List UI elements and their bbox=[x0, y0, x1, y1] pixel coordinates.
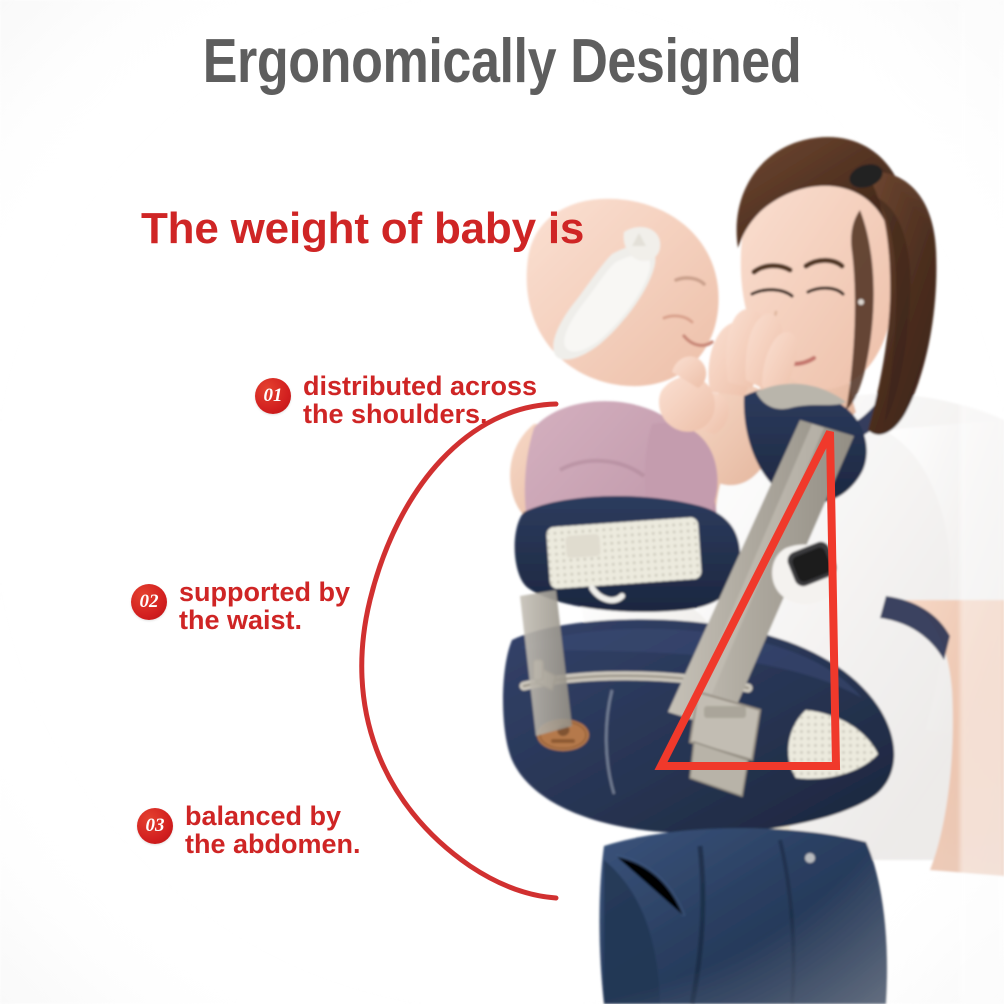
callout-02-text: supported by the waist. bbox=[179, 579, 350, 634]
callout-02-line2: the waist. bbox=[179, 607, 350, 635]
callout-03-text: balanced by the abdomen. bbox=[185, 803, 361, 858]
callout-01-line2: the shoulders. bbox=[303, 401, 537, 429]
callout-01-text: distributed across the shoulders. bbox=[303, 373, 537, 428]
product-infographic: Ergonomically Designed The weight of bab… bbox=[0, 0, 1004, 1004]
callout-02-badge: 02 bbox=[131, 584, 167, 620]
callout-02: 02 supported by the waist. bbox=[131, 584, 350, 634]
callout-03-badge: 03 bbox=[137, 808, 173, 844]
callout-01-line1: distributed across bbox=[303, 371, 537, 401]
page-title: Ergonomically Designed bbox=[80, 26, 923, 97]
callout-01-badge: 01 bbox=[255, 378, 291, 414]
callout-02-line1: supported by bbox=[179, 577, 350, 607]
callout-03-line2: the abdomen. bbox=[185, 831, 361, 859]
callout-03: 03 balanced by the abdomen. bbox=[137, 808, 361, 858]
headline-text: The weight of baby is bbox=[141, 204, 584, 254]
callout-03-line1: balanced by bbox=[185, 801, 341, 831]
callout-01: 01 distributed across the shoulders. bbox=[255, 378, 537, 428]
